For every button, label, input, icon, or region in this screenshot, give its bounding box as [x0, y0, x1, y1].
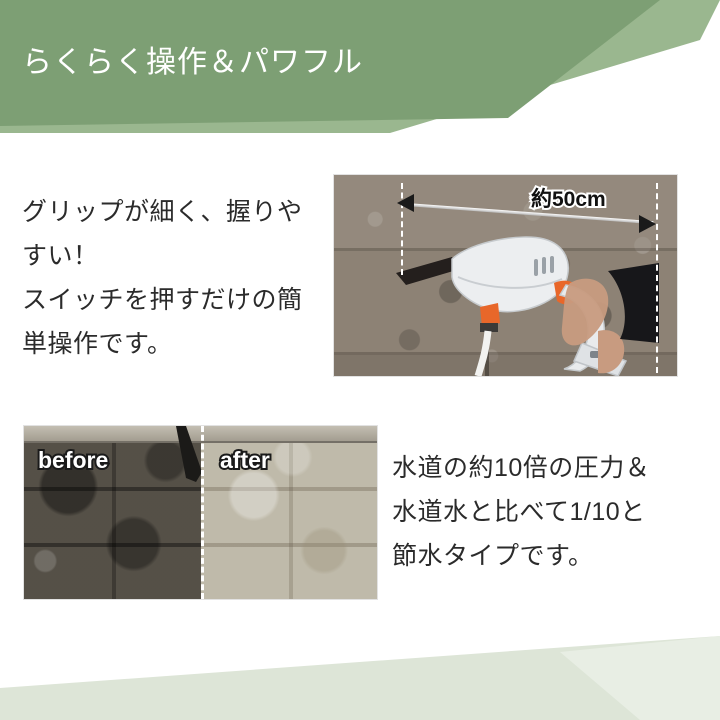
pressure-line-2: 水道水と比べて1/10と [392, 490, 692, 534]
washer-body [452, 237, 568, 312]
pressure-line-1: 水道の約10倍の圧力＆ [392, 446, 692, 490]
water-hose [478, 331, 488, 376]
measure-label: 約50cm [531, 183, 606, 213]
footer-wedge-shape [0, 590, 720, 720]
sleeve [608, 263, 659, 343]
grip-line-2: すい！ [22, 234, 327, 278]
grip-description: グリップが細く、握りや すい！ スイッチを押すだけの簡 単操作です。 [22, 190, 327, 366]
measure-arrow-right-icon [639, 215, 656, 233]
grip-line-4: 単操作です。 [22, 322, 327, 366]
page-title: らくらく操作＆パワフル [22, 44, 363, 82]
footer-wedge [0, 590, 720, 720]
after-label: after [220, 447, 270, 474]
vent-slot [534, 259, 538, 276]
grip-line-3: スイッチを押すだけの簡 [22, 278, 327, 322]
cleaning-nozzle-icon [172, 426, 212, 488]
pressure-washer-illustration [394, 211, 659, 376]
product-size-photo: 約50cm [333, 174, 678, 377]
connector-collar [480, 323, 498, 332]
before-label: before [38, 447, 108, 474]
header-banner: らくらく操作＆パワフル [0, 0, 720, 160]
vent-slot [542, 257, 546, 274]
vent-slot [550, 256, 554, 273]
nozzle-lance [396, 257, 460, 285]
measure-guide-right [656, 183, 658, 373]
product-feature-page: らくらく操作＆パワフル グリップが細く、握りや すい！ スイッチを押すだけの簡 … [0, 0, 720, 720]
pressure-line-3: 節水タイプです。 [392, 534, 692, 578]
before-after-photo: before after [23, 425, 378, 600]
measure-arrow-left-icon [397, 194, 414, 212]
grip-line-1: グリップが細く、握りや [22, 190, 327, 234]
pressure-description: 水道の約10倍の圧力＆ 水道水と比べて1/10と 節水タイプです。 [392, 446, 692, 578]
before-after-divider [201, 426, 204, 599]
